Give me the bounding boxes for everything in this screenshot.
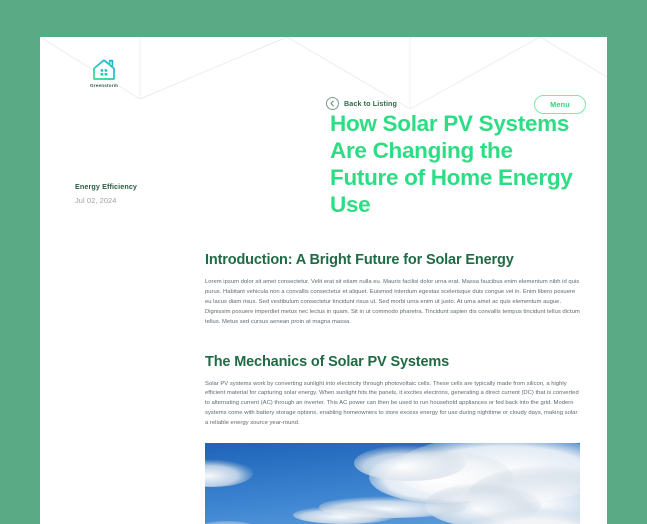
page-title: How Solar PV Systems Are Changing the Fu… xyxy=(330,110,580,218)
back-to-listing-link[interactable]: Back to Listing xyxy=(326,97,397,110)
arrow-left-icon xyxy=(326,97,339,110)
section-paragraph-mechanics: Solar PV systems work by converting sunl… xyxy=(205,380,580,430)
brand-name: Greenstorm xyxy=(78,83,130,88)
article-card: Greenstorm Back to Listing Menu How Sola… xyxy=(40,37,607,524)
clouds-illustration xyxy=(205,443,580,524)
article-meta: Energy Efficiency Jul 02, 2024 xyxy=(75,182,205,205)
article-section: Introduction: A Bright Future for Solar … xyxy=(205,252,580,328)
house-logo-icon xyxy=(91,58,117,82)
article-section: The Mechanics of Solar PV Systems Solar … xyxy=(205,354,580,524)
sky-photo xyxy=(205,443,580,524)
section-heading-mechanics: The Mechanics of Solar PV Systems xyxy=(205,354,580,370)
back-to-listing-label: Back to Listing xyxy=(344,99,397,108)
app-frame: Greenstorm Back to Listing Menu How Sola… xyxy=(0,0,647,524)
menu-button-label: Menu xyxy=(550,100,570,109)
section-paragraph-introduction: Lorem ipsum dolor sit amet consectetur. … xyxy=(205,278,580,328)
section-heading-introduction: Introduction: A Bright Future for Solar … xyxy=(205,252,580,268)
article-body: Introduction: A Bright Future for Solar … xyxy=(205,252,580,524)
article-category: Energy Efficiency xyxy=(75,182,205,191)
brand-logo[interactable]: Greenstorm xyxy=(78,58,130,88)
article-date: Jul 02, 2024 xyxy=(75,196,205,205)
site-header: Greenstorm Back to Listing Menu xyxy=(40,37,607,115)
